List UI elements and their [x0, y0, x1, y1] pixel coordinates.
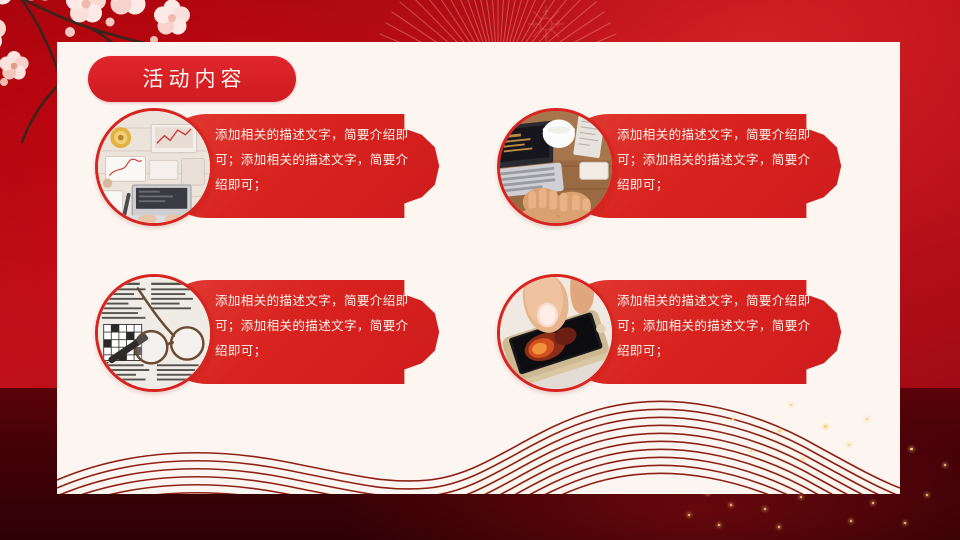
items-grid: 添加相关的描述文字，简要介绍即可；添加相关的描述文字，简要介绍即可；: [57, 42, 900, 494]
newspaper-glasses-pen-photo: [95, 274, 213, 392]
content-sheet: 活动内容 添加相关的描述文字，简要介绍即可；添加相关的描述文字，简要介绍即可；: [57, 42, 900, 494]
item-description: 添加相关的描述文字，简要介绍即可；添加相关的描述文字，简要介绍即可；: [215, 108, 415, 212]
item-description: 添加相关的描述文字，简要介绍即可；添加相关的描述文字，简要介绍即可；: [617, 108, 817, 212]
snowflake-motif-icon: [524, 2, 568, 46]
content-item[interactable]: 添加相关的描述文字，简要介绍即可；添加相关的描述文字，简要介绍即可；: [95, 108, 445, 226]
content-item[interactable]: 添加相关的描述文字，简要介绍即可；添加相关的描述文字，简要介绍即可；: [95, 274, 445, 392]
item-description: 添加相关的描述文字，简要介绍即可；添加相关的描述文字，简要介绍即可；: [215, 274, 415, 378]
content-item[interactable]: 添加相关的描述文字，简要介绍即可；添加相关的描述文字，简要介绍即可；: [497, 108, 847, 226]
item-description: 添加相关的描述文字，简要介绍即可；添加相关的描述文字，简要介绍即可；: [617, 274, 817, 378]
slide-background: 活动内容 添加相关的描述文字，简要介绍即可；添加相关的描述文字，简要介绍即可；: [0, 0, 960, 540]
finger-touching-smartphone-photo: [497, 274, 615, 392]
hands-typing-laptop-photo: [497, 108, 615, 226]
content-item[interactable]: 添加相关的描述文字，简要介绍即可；添加相关的描述文字，简要介绍即可；: [497, 274, 847, 392]
desk-flatlay-laptop-photo: [95, 108, 213, 226]
